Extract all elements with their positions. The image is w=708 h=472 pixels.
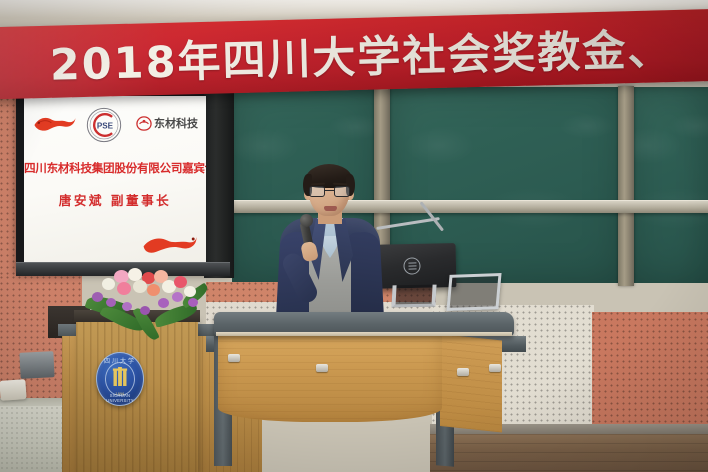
metal-document-frame (446, 273, 501, 311)
chalkboard-divider (618, 86, 634, 286)
wall-panel-salmon-right (592, 312, 708, 430)
chalkboard-panel-right (630, 87, 708, 283)
slide-logo-row: PSE 东材科技 (24, 104, 206, 144)
pse-seal-icon: PSE (86, 107, 122, 143)
slide-speaker-line: 唐安斌 副董事长 (24, 190, 206, 209)
lectern-clasp (489, 364, 501, 372)
event-banner-text: 2018年四川大学社会奖教金、 (0, 13, 708, 94)
projection-screen: PSE 东材科技 四川东材科技集团股份有限公司嘉宾讲话 唐安斌 副董事长 (24, 96, 206, 262)
lectern-top-edge (216, 332, 512, 336)
slide-title-line: 四川东材科技集团股份有限公司嘉宾讲话 (24, 160, 206, 176)
flower (172, 292, 183, 302)
lens-left (309, 186, 325, 197)
dongcai-logo: 东材科技 (136, 116, 198, 131)
emblem-chinese-text: 四川大学 (97, 356, 143, 365)
small-monitor (19, 351, 54, 379)
flower (106, 298, 116, 307)
emblem-english-text: SICHUAN UNIVERSITY (97, 393, 143, 403)
flower (184, 286, 196, 297)
mouth (324, 206, 337, 211)
flower (188, 298, 198, 307)
speaker-person (272, 166, 388, 326)
lectern-side-panel (440, 334, 502, 433)
svg-text:PSE: PSE (97, 122, 114, 131)
lectern-clasp (457, 368, 469, 376)
flower (122, 302, 132, 311)
monitor-stand (391, 285, 436, 308)
flower (133, 280, 147, 293)
lectern (214, 312, 514, 472)
projection-screen-frame-right (204, 88, 234, 278)
lectern-clasp (316, 364, 328, 372)
lectern-front-panel (218, 334, 442, 422)
flower-arrangement (84, 268, 208, 340)
flower (117, 282, 131, 295)
flower (147, 284, 160, 296)
glasses-bridge (325, 190, 334, 191)
chalk-dust (630, 87, 708, 283)
flower (174, 276, 187, 288)
eyeglasses-icon (308, 186, 351, 198)
dell-logo-icon (403, 257, 420, 274)
flower (114, 270, 129, 283)
desk-paper-item (0, 379, 27, 401)
dongcai-logo-text: 东材科技 (154, 118, 198, 129)
dragon-ribbon-corner-icon (142, 230, 198, 256)
flower (92, 292, 103, 302)
dongcai-emblem-icon (136, 116, 152, 131)
lecture-hall-photo: PSE 东材科技 四川东材科技集团股份有限公司嘉宾讲话 唐安斌 副董事长 201… (0, 0, 708, 472)
dragon-ribbon-icon (33, 113, 77, 134)
lectern-clasp (228, 354, 240, 362)
flower (102, 278, 115, 290)
flower (140, 306, 150, 315)
flower (158, 298, 169, 308)
lens-right (334, 186, 350, 197)
emblem-gate-icon (113, 367, 128, 387)
sichuan-university-emblem: 四川大学 1896 SICHUAN UNIVERSITY (96, 352, 144, 406)
